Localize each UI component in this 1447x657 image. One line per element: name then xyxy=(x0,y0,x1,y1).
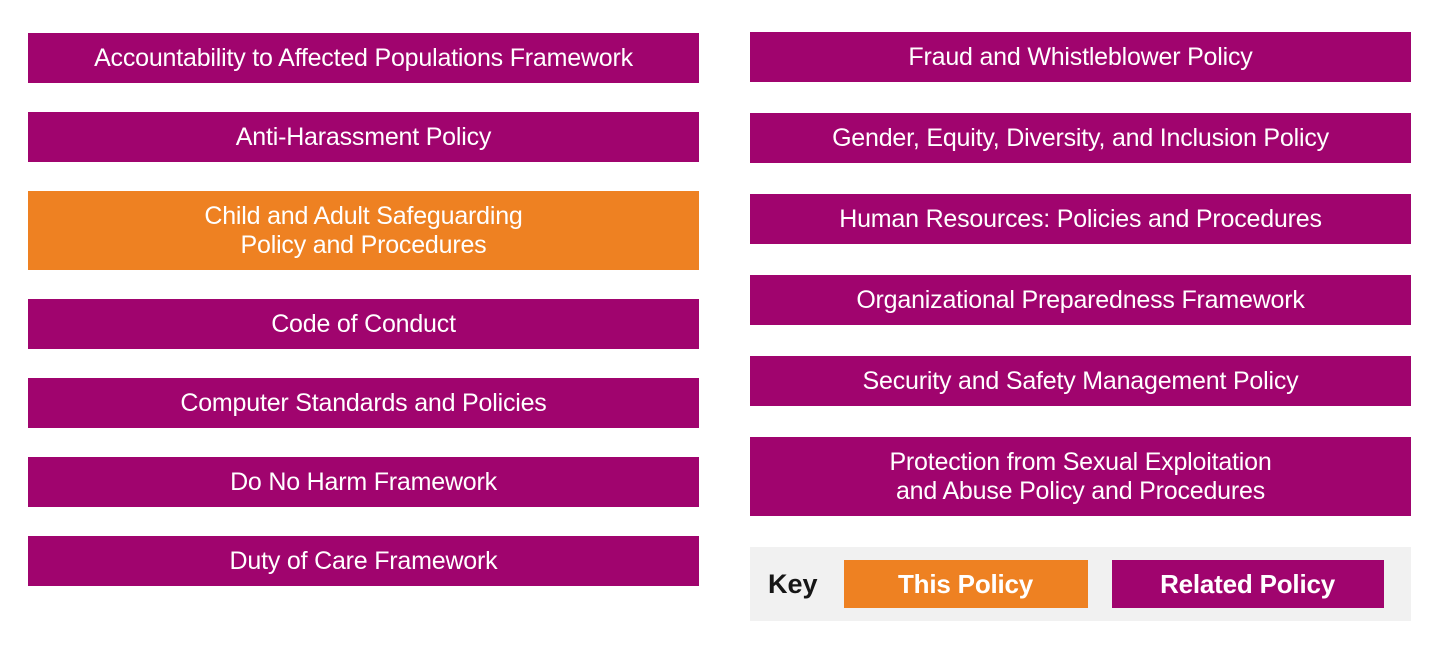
right-policy-column: Fraud and Whistleblower Policy Gender, E… xyxy=(750,32,1411,621)
policy-box-label: Code of Conduct xyxy=(38,310,689,339)
policy-box-code-of-conduct[interactable]: Code of Conduct xyxy=(28,299,699,349)
policy-box-label: Do No Harm Framework xyxy=(38,468,689,497)
key-swatch-related-policy-label: Related Policy xyxy=(1160,569,1335,600)
policy-box-label-line-2: and Abuse Policy and Procedures xyxy=(760,477,1401,506)
policy-box-label: Organizational Preparedness Framework xyxy=(760,286,1401,315)
policy-box-label: Anti-Harassment Policy xyxy=(38,123,689,152)
policy-box-computer-standards-and-policies[interactable]: Computer Standards and Policies xyxy=(28,378,699,428)
policy-box-human-resources-policies-and-procedures[interactable]: Human Resources: Policies and Procedures xyxy=(750,194,1411,244)
policy-box-label: Computer Standards and Policies xyxy=(38,389,689,418)
policy-box-fraud-and-whistleblower-policy[interactable]: Fraud and Whistleblower Policy xyxy=(750,32,1411,82)
policy-box-label: Fraud and Whistleblower Policy xyxy=(760,43,1401,72)
policy-box-duty-of-care-framework[interactable]: Duty of Care Framework xyxy=(28,536,699,586)
policy-box-label: Accountability to Affected Populations F… xyxy=(38,44,689,73)
policy-box-label: Gender, Equity, Diversity, and Inclusion… xyxy=(760,124,1401,153)
policy-box-label-line-1: Child and Adult Safeguarding xyxy=(38,202,689,231)
policy-box-accountability-to-affected-populations-framework[interactable]: Accountability to Affected Populations F… xyxy=(28,33,699,83)
diagram-canvas: Accountability to Affected Populations F… xyxy=(0,0,1447,657)
policy-box-label: Security and Safety Management Policy xyxy=(760,367,1401,396)
key-swatch-this-policy[interactable]: This Policy xyxy=(844,560,1088,608)
policy-box-label-line-1: Protection from Sexual Exploitation xyxy=(760,448,1401,477)
key-legend-panel: Key This Policy Related Policy xyxy=(750,547,1411,621)
policy-box-label: Child and Adult Safeguarding Policy and … xyxy=(38,202,689,260)
policy-box-organizational-preparedness-framework[interactable]: Organizational Preparedness Framework xyxy=(750,275,1411,325)
policy-box-anti-harassment-policy[interactable]: Anti-Harassment Policy xyxy=(28,112,699,162)
policy-box-label: Protection from Sexual Exploitation and … xyxy=(760,448,1401,506)
policy-box-do-no-harm-framework[interactable]: Do No Harm Framework xyxy=(28,457,699,507)
left-policy-column: Accountability to Affected Populations F… xyxy=(28,33,699,615)
key-label: Key xyxy=(768,569,818,600)
policy-box-child-and-adult-safeguarding-policy-and-procedures[interactable]: Child and Adult Safeguarding Policy and … xyxy=(28,191,699,270)
policy-box-label: Human Resources: Policies and Procedures xyxy=(760,205,1401,234)
policy-box-label: Duty of Care Framework xyxy=(38,547,689,576)
key-swatch-related-policy[interactable]: Related Policy xyxy=(1112,560,1384,608)
key-swatch-this-policy-label: This Policy xyxy=(898,569,1033,600)
policy-box-label-line-2: Policy and Procedures xyxy=(38,231,689,260)
policy-box-security-and-safety-management-policy[interactable]: Security and Safety Management Policy xyxy=(750,356,1411,406)
policy-box-gender-equity-diversity-and-inclusion-policy[interactable]: Gender, Equity, Diversity, and Inclusion… xyxy=(750,113,1411,163)
policy-box-protection-from-sexual-exploitation-and-abuse-policy-and-procedures[interactable]: Protection from Sexual Exploitation and … xyxy=(750,437,1411,516)
